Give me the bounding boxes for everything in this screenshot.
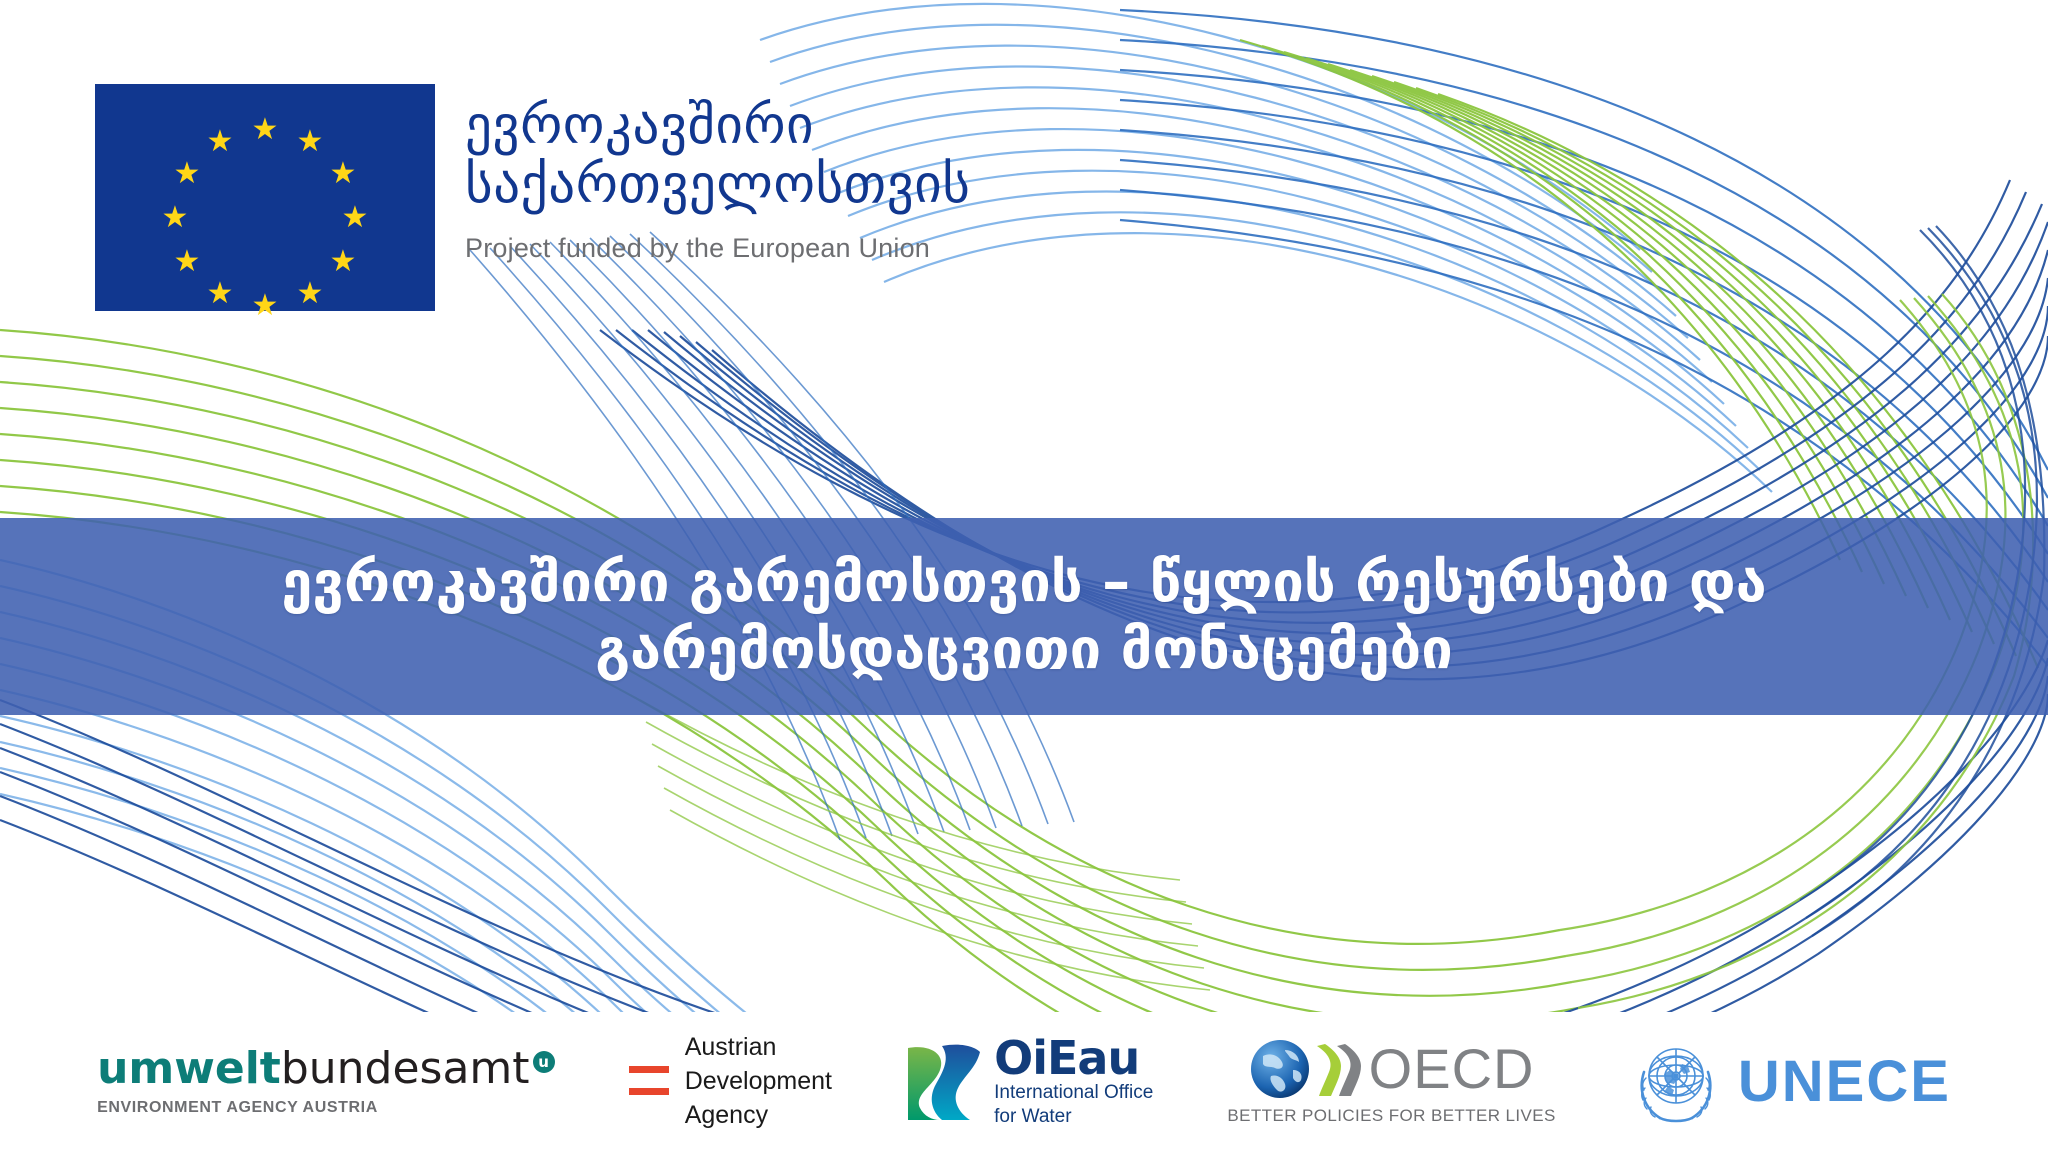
page-title-line2: გარემოსდაცვითი მონაცემები	[595, 617, 1453, 683]
logo-oieau: OiEau International Office for Water	[906, 1035, 1153, 1129]
oieau-sub2: for Water	[994, 1105, 1153, 1129]
partner-logo-strip: umweltbundesamtu ENVIRONMENT AGENCY AUST…	[0, 1012, 2048, 1152]
unece-name: UNECE	[1738, 1053, 1951, 1111]
eu-star: ★	[172, 159, 202, 189]
oieau-wordmark: OiEau International Office for Water	[994, 1035, 1153, 1129]
oecd-chevron-icon	[1313, 1038, 1367, 1100]
eu-star: ★	[205, 127, 235, 157]
eu-flag-icon: ★ ★ ★ ★ ★ ★ ★ ★ ★ ★ ★ ★	[95, 84, 435, 311]
ada-line1: Austrian	[685, 1031, 832, 1065]
austria-flag-icon	[629, 1066, 669, 1099]
eu-funding-logo: ★ ★ ★ ★ ★ ★ ★ ★ ★ ★ ★ ★ ევროკავშირი საქა…	[95, 84, 970, 311]
logo-umweltbundesamt: umweltbundesamtu ENVIRONMENT AGENCY AUST…	[97, 1047, 554, 1117]
presentation-slide: ★ ★ ★ ★ ★ ★ ★ ★ ★ ★ ★ ★ ევროკავშირი საქა…	[0, 0, 2048, 1152]
oieau-sub1: International Office	[994, 1081, 1153, 1105]
oecd-name: OECD	[1369, 1041, 1535, 1097]
eu-star: ★	[295, 127, 325, 157]
page-title-line1: ევროკავშირი გარემოსთვის – წყლის რესურსებ…	[281, 550, 1766, 616]
eu-star: ★	[340, 203, 370, 233]
eu-star: ★	[250, 291, 280, 321]
ada-line3: Agency	[685, 1099, 832, 1133]
ada-line2: Development	[685, 1065, 832, 1099]
united-nations-emblem-icon	[1630, 1036, 1722, 1128]
page-title: ევროკავშირი გარემოსთვის – წყლის რესურსებ…	[0, 518, 2048, 715]
umweltbundesamt-word-bold: umwelt	[97, 1043, 281, 1094]
eu-star: ★	[328, 159, 358, 189]
oecd-globe-icon	[1249, 1038, 1311, 1100]
ada-wordmark: Austrian Development Agency	[685, 1031, 832, 1132]
logo-unece: UNECE	[1630, 1036, 1951, 1128]
eu-star: ★	[328, 247, 358, 277]
eu-wordmark: ევროკავშირი საქართველოსთვის Project fund…	[465, 84, 970, 264]
eu-wordmark-line1: ევროკავშირი	[465, 96, 970, 155]
eu-star: ★	[205, 279, 235, 309]
umweltbundesamt-tagline: ENVIRONMENT AGENCY AUSTRIA	[97, 1099, 378, 1117]
logo-oecd: OECD BETTER POLICIES FOR BETTER LIVES	[1227, 1038, 1555, 1126]
umweltbundesamt-wordmark: umweltbundesamtu	[97, 1047, 554, 1091]
oecd-tagline: BETTER POLICIES FOR BETTER LIVES	[1227, 1106, 1555, 1126]
umweltbundesamt-superscript: u	[533, 1051, 555, 1073]
eu-funding-subtitle: Project funded by the European Union	[465, 233, 970, 264]
eu-star: ★	[250, 115, 280, 145]
eu-star: ★	[160, 203, 190, 233]
oieau-name: OiEau	[994, 1035, 1153, 1081]
logo-austrian-development-agency: Austrian Development Agency	[629, 1031, 832, 1132]
eu-star: ★	[172, 247, 202, 277]
eu-wordmark-line2: საქართველოსთვის	[465, 155, 970, 214]
eu-star: ★	[295, 279, 325, 309]
oecd-wordmark-row: OECD	[1249, 1038, 1535, 1100]
umweltbundesamt-word-light: bundesamt	[281, 1043, 530, 1094]
oieau-river-icon	[906, 1042, 982, 1122]
